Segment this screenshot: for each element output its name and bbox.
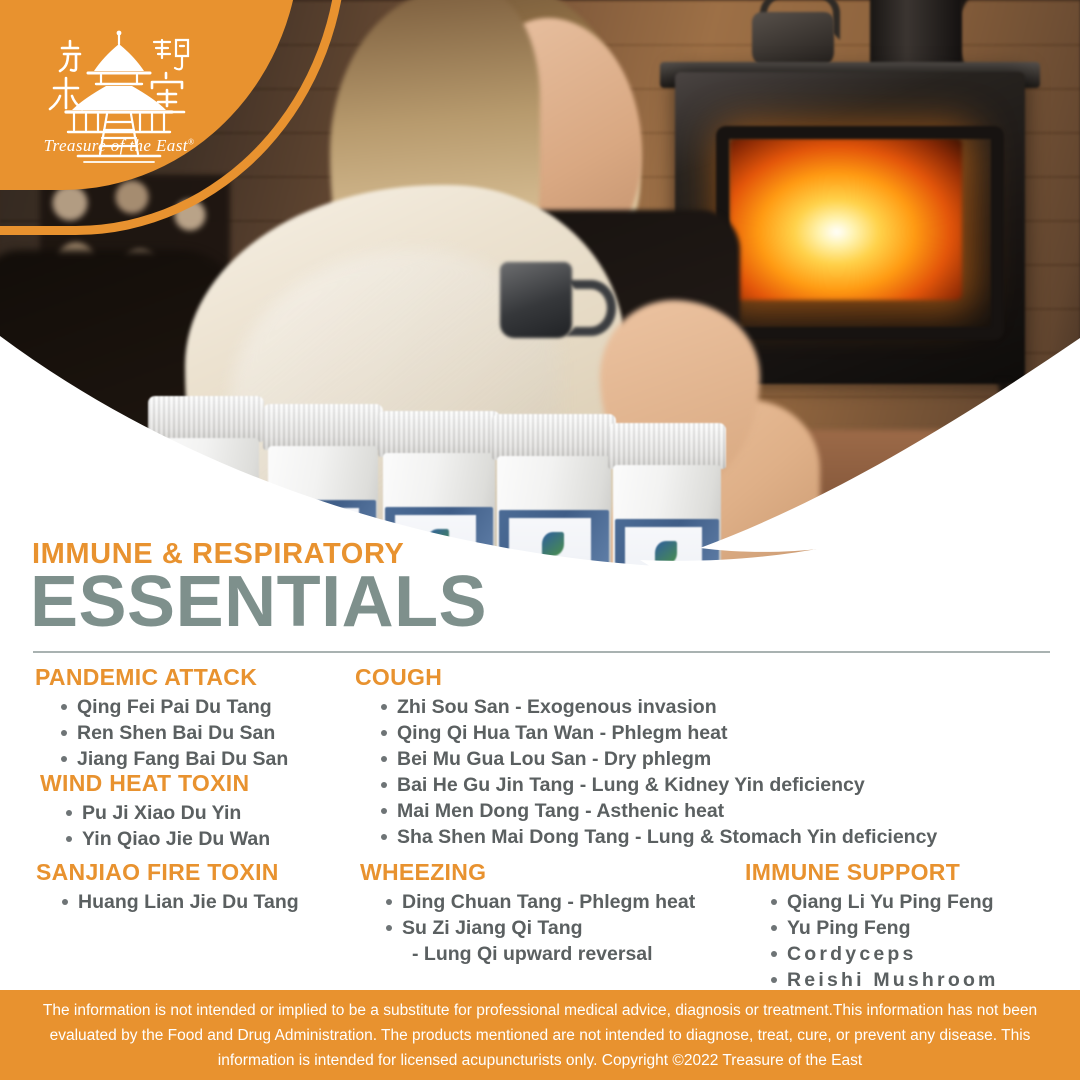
bottle-cap bbox=[148, 396, 264, 442]
list-item-continuation: - Lung Qi upward reversal bbox=[386, 941, 695, 967]
bottle-cap bbox=[492, 414, 616, 460]
section-list: Qiang Li Yu Ping Feng Yu Ping Feng Cordy… bbox=[745, 889, 999, 993]
section-title: WIND HEAT TOXIN bbox=[40, 770, 270, 797]
section-cough: COUGH Zhi Sou San - Exogenous invasion Q… bbox=[355, 664, 937, 850]
list-item: Mai Men Dong Tang - Asthenic heat bbox=[381, 798, 937, 824]
tianjiang-mark-icon bbox=[542, 532, 564, 556]
section-wind-heat-toxin: WIND HEAT TOXIN Pu Ji Xiao Du Yin Yin Qi… bbox=[40, 770, 270, 852]
section-title: IMMUNE SUPPORT bbox=[745, 859, 999, 886]
title-divider bbox=[33, 651, 1050, 653]
list-item: Ren Shen Bai Du San bbox=[61, 720, 288, 746]
section-sanjiao-fire-toxin: SANJIAO FIRE TOXIN Huang Lian Jie Du Tan… bbox=[36, 859, 299, 915]
supplement-bottle bbox=[608, 423, 726, 600]
section-list: Zhi Sou San - Exogenous invasion Qing Qi… bbox=[355, 694, 937, 850]
list-item: Yin Qiao Jie Du Wan bbox=[66, 826, 270, 852]
disclaimer-text: The information is not intended or impli… bbox=[25, 998, 1055, 1073]
list-item: Jiang Fang Bai Du San bbox=[61, 746, 288, 772]
section-pandemic-attack: PANDEMIC ATTACK Qing Fei Pai Du Tang Ren… bbox=[35, 664, 288, 772]
bottle-cap bbox=[378, 411, 500, 457]
footer-disclaimer-bar: The information is not intended or impli… bbox=[0, 990, 1080, 1080]
section-title: PANDEMIC ATTACK bbox=[35, 664, 288, 691]
list-item: Qing Fei Pai Du Tang bbox=[61, 694, 288, 720]
bottle-cap bbox=[263, 404, 383, 450]
section-list: Huang Lian Jie Du Tang bbox=[36, 889, 299, 915]
list-item: Yu Ping Feng bbox=[771, 915, 999, 941]
section-immune-support: IMMUNE SUPPORT Qiang Li Yu Ping Feng Yu … bbox=[745, 859, 999, 993]
coffee-mug bbox=[500, 262, 572, 338]
list-item: Cordyceps bbox=[771, 941, 999, 967]
poster-root: Treasure of the East® IMMUNE & RESPIRATO… bbox=[0, 0, 1080, 1080]
tianjiang-mark-icon bbox=[427, 529, 449, 553]
mug-handle bbox=[566, 280, 616, 336]
brand-tagline-text: Treasure of the East bbox=[44, 136, 188, 155]
section-list: Qing Fei Pai Du Tang Ren Shen Bai Du San… bbox=[35, 694, 288, 772]
brand-tagline: Treasure of the East® bbox=[34, 136, 204, 156]
page-title: ESSENTIALS bbox=[30, 566, 487, 638]
bottle-cap bbox=[608, 423, 726, 469]
list-item: Huang Lian Jie Du Tang bbox=[62, 889, 299, 915]
registered-mark: ® bbox=[188, 137, 194, 146]
section-title: WHEEZING bbox=[360, 859, 695, 886]
bottle-brand-text bbox=[522, 564, 586, 569]
stove-window-frame bbox=[716, 126, 1004, 340]
list-item: Bai He Gu Jin Tang - Lung & Kidney Yin d… bbox=[381, 772, 937, 798]
stove-flue bbox=[870, 0, 962, 70]
section-title: COUGH bbox=[355, 664, 937, 691]
list-item: Pu Ji Xiao Du Yin bbox=[66, 800, 270, 826]
list-item: Qiang Li Yu Ping Feng bbox=[771, 889, 999, 915]
list-item: Ding Chuan Tang - Phlegm heat bbox=[386, 889, 695, 915]
section-title: SANJIAO FIRE TOXIN bbox=[36, 859, 299, 886]
list-item: Su Zi Jiang Qi Tang bbox=[386, 915, 695, 941]
bottle-brand-text bbox=[636, 573, 697, 578]
kettle bbox=[752, 12, 834, 68]
list-item: Qing Qi Hua Tan Wan - Phlegm heat bbox=[381, 720, 937, 746]
list-item: Sha Shen Mai Dong Tang - Lung & Stomach … bbox=[381, 824, 937, 850]
bottle-tagline-text bbox=[514, 596, 593, 600]
supplement-bottle bbox=[492, 414, 616, 600]
list-item: Bei Mu Gua Lou San - Dry phlegm bbox=[381, 746, 937, 772]
list-item: Zhi Sou San - Exogenous invasion bbox=[381, 694, 937, 720]
section-list: Ding Chuan Tang - Phlegm heat Su Zi Jian… bbox=[360, 889, 695, 967]
section-list: Pu Ji Xiao Du Yin Yin Qiao Jie Du Wan bbox=[40, 800, 270, 852]
bottle-label-panel bbox=[509, 518, 591, 600]
section-wheezing: WHEEZING Ding Chuan Tang - Phlegm heat S… bbox=[360, 859, 695, 967]
